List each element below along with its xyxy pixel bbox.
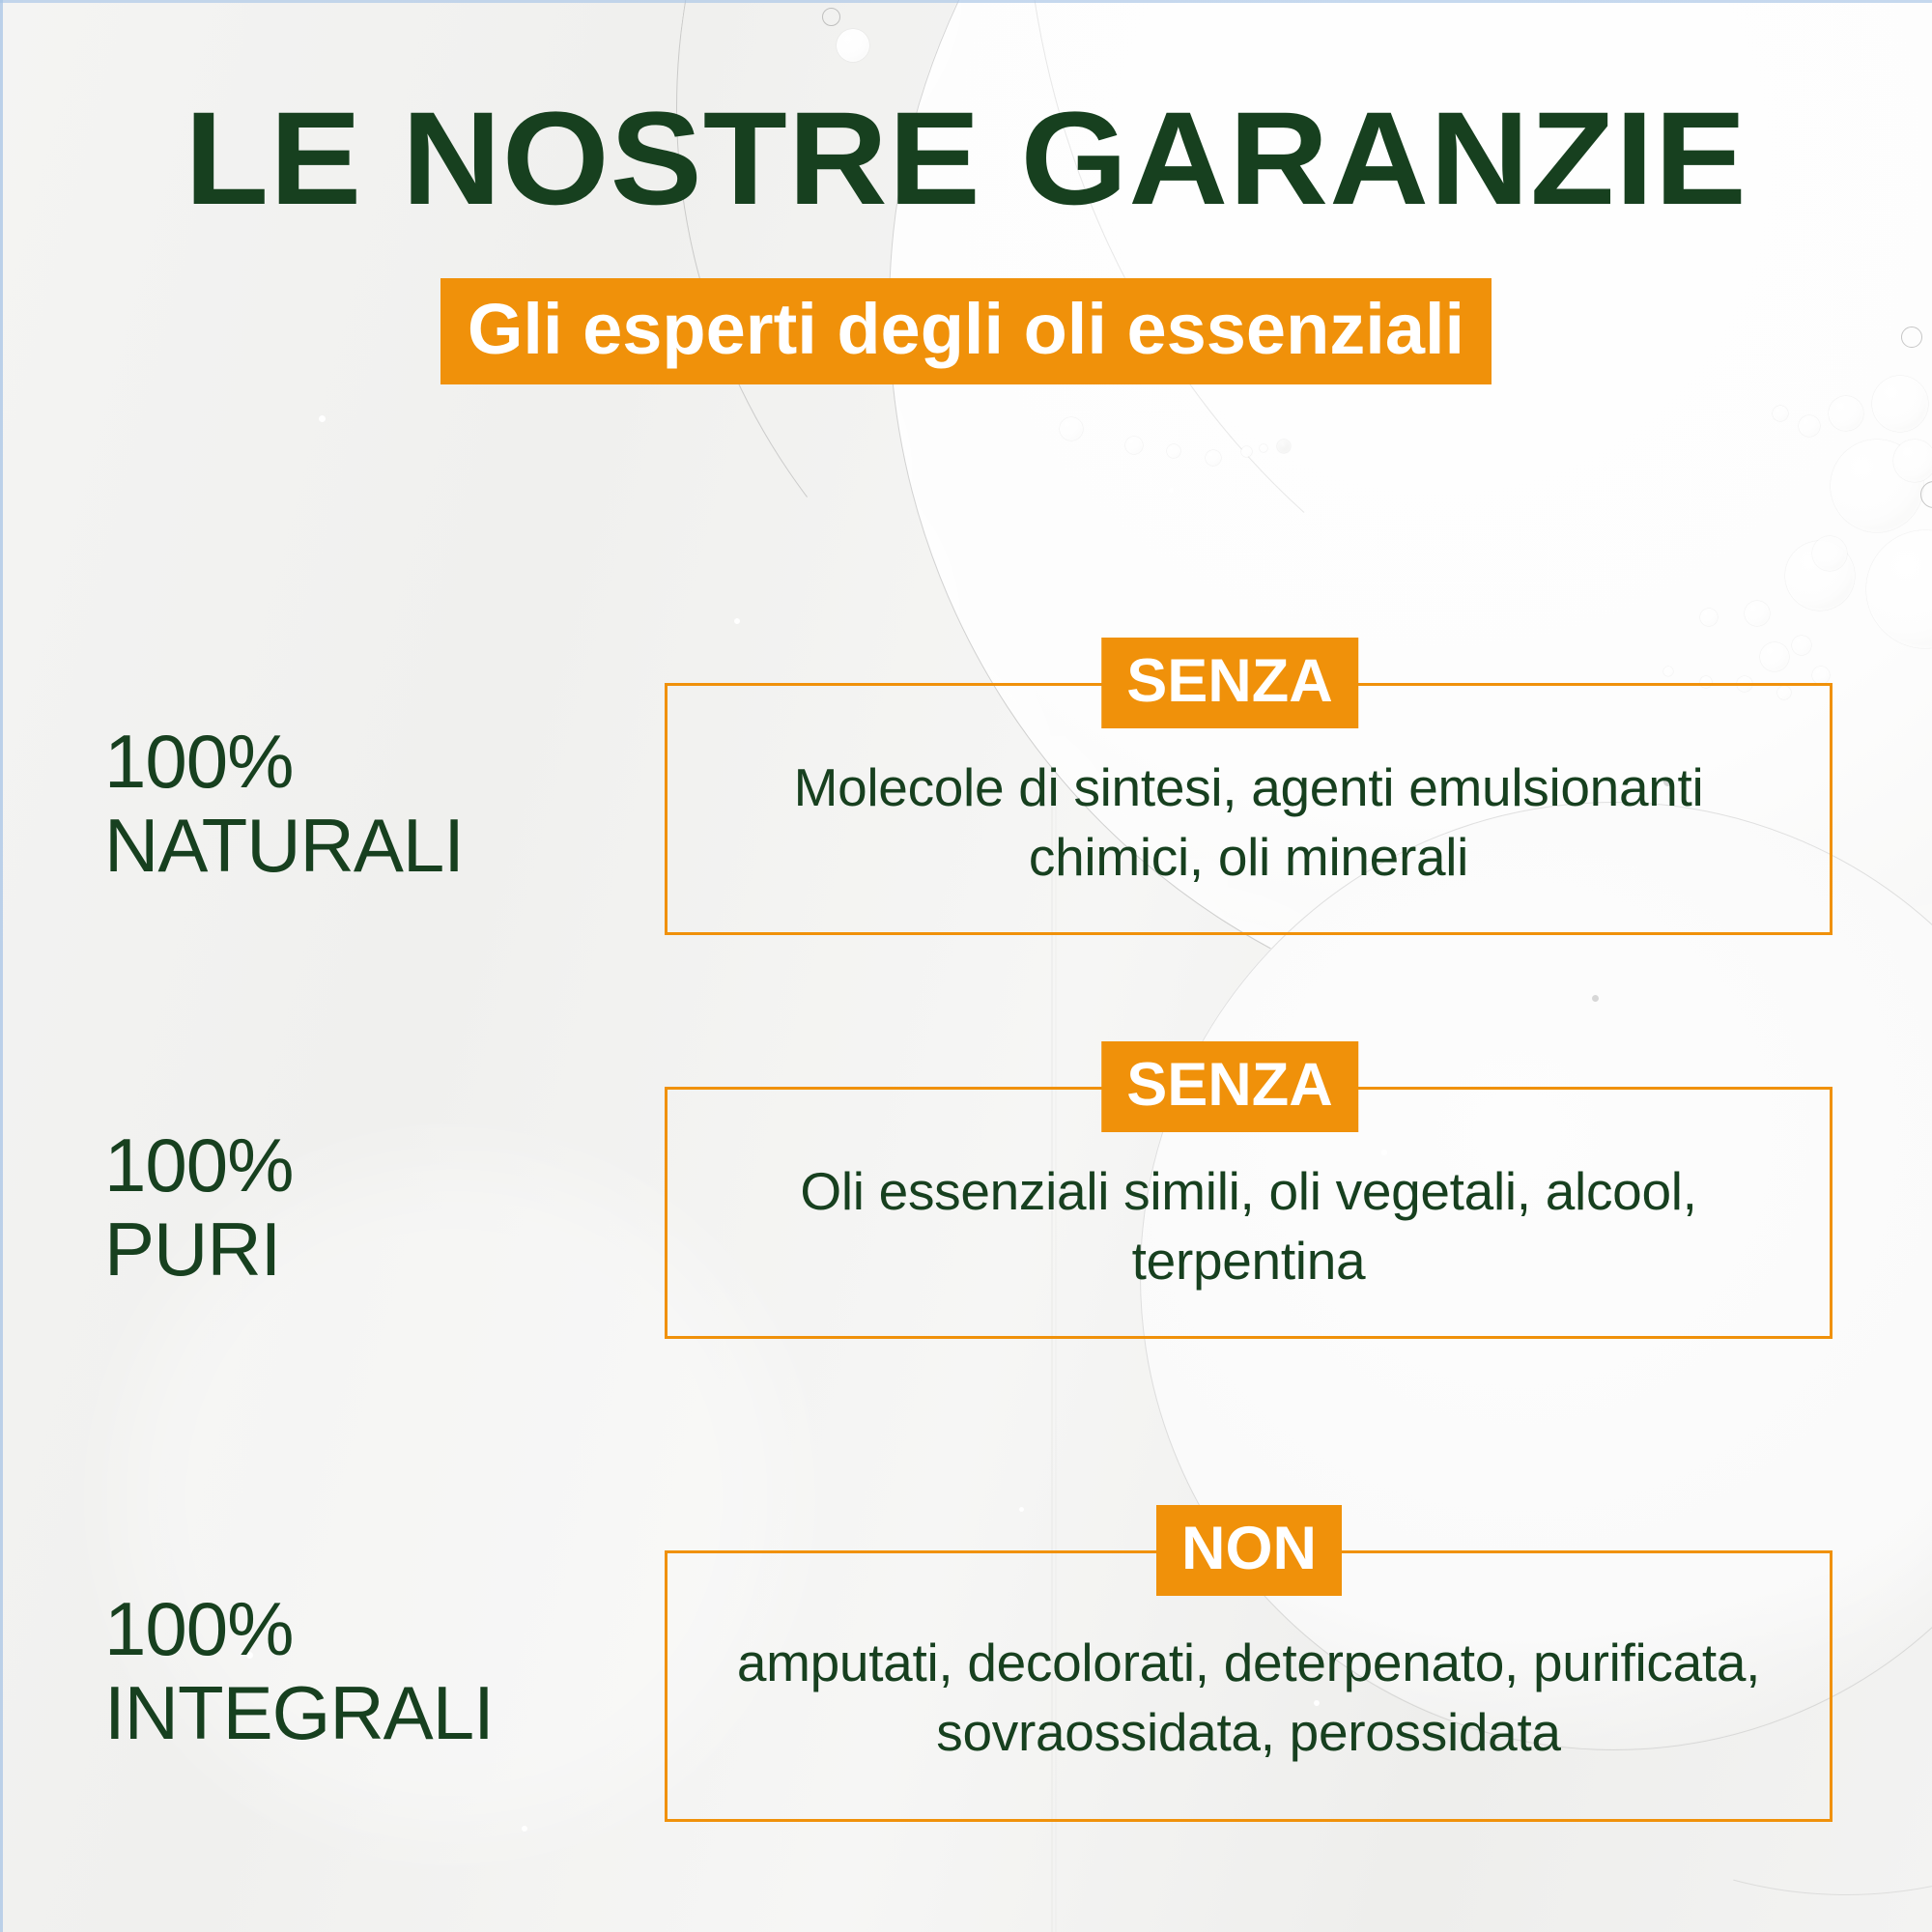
guarantee-label-integrali: 100% INTEGRALI — [104, 1587, 494, 1756]
bubble — [1893, 440, 1932, 482]
bubble — [1829, 396, 1863, 431]
bubble — [1125, 437, 1143, 454]
page-title: LE NOSTRE GARANZIE — [0, 93, 1932, 225]
bubble — [1812, 536, 1847, 571]
bubble — [1792, 636, 1811, 655]
bubble — [1760, 642, 1789, 671]
speck — [522, 1826, 527, 1832]
bubble — [1260, 444, 1267, 452]
bubble — [1773, 406, 1788, 421]
guarantee-badge-non: NON — [1156, 1505, 1342, 1596]
speck — [1592, 995, 1599, 1002]
bubble-ring — [1920, 481, 1932, 508]
canvas-top-edge — [0, 0, 1932, 3]
subtitle-banner: Gli esperti degli oli essenziali — [440, 278, 1492, 384]
bubble — [1277, 440, 1291, 453]
bubble — [1663, 667, 1673, 676]
speck — [1169, 488, 1174, 493]
bubble — [1799, 415, 1820, 437]
guarantee-badge-senza: SENZA — [1101, 1041, 1358, 1132]
bubble — [1241, 446, 1252, 457]
speck — [734, 618, 740, 624]
guarantee-badge-senza: SENZA — [1101, 638, 1358, 728]
guarantees-infographic: LE NOSTRE GARANZIE Gli esperti degli oli… — [0, 0, 1932, 1932]
speck — [1019, 1507, 1024, 1512]
bubble — [1060, 417, 1083, 440]
subtitle-container: Gli esperti degli oli essenziali — [0, 278, 1932, 384]
bubble — [1866, 530, 1932, 648]
guarantee-card-text: amputati, decolorati, deterpenato, purif… — [668, 1629, 1830, 1767]
bubble — [837, 29, 869, 62]
guarantee-card-text: Oli essenziali simili, oli vegetali, alc… — [668, 1157, 1830, 1295]
guarantee-label-naturali: 100% NATURALI — [104, 720, 464, 889]
bubble — [1167, 444, 1180, 458]
bubble — [1785, 541, 1855, 611]
bubble — [1745, 601, 1770, 626]
bubble-ring — [822, 8, 840, 26]
bubble — [1831, 440, 1923, 532]
bubble — [1812, 667, 1830, 684]
guarantee-label-puri: 100% PURI — [104, 1123, 294, 1293]
speck — [319, 415, 326, 422]
bubble — [1700, 609, 1718, 626]
guarantee-card-text: Molecole di sintesi, agenti emulsionanti… — [668, 753, 1830, 892]
bubble — [1206, 450, 1221, 466]
